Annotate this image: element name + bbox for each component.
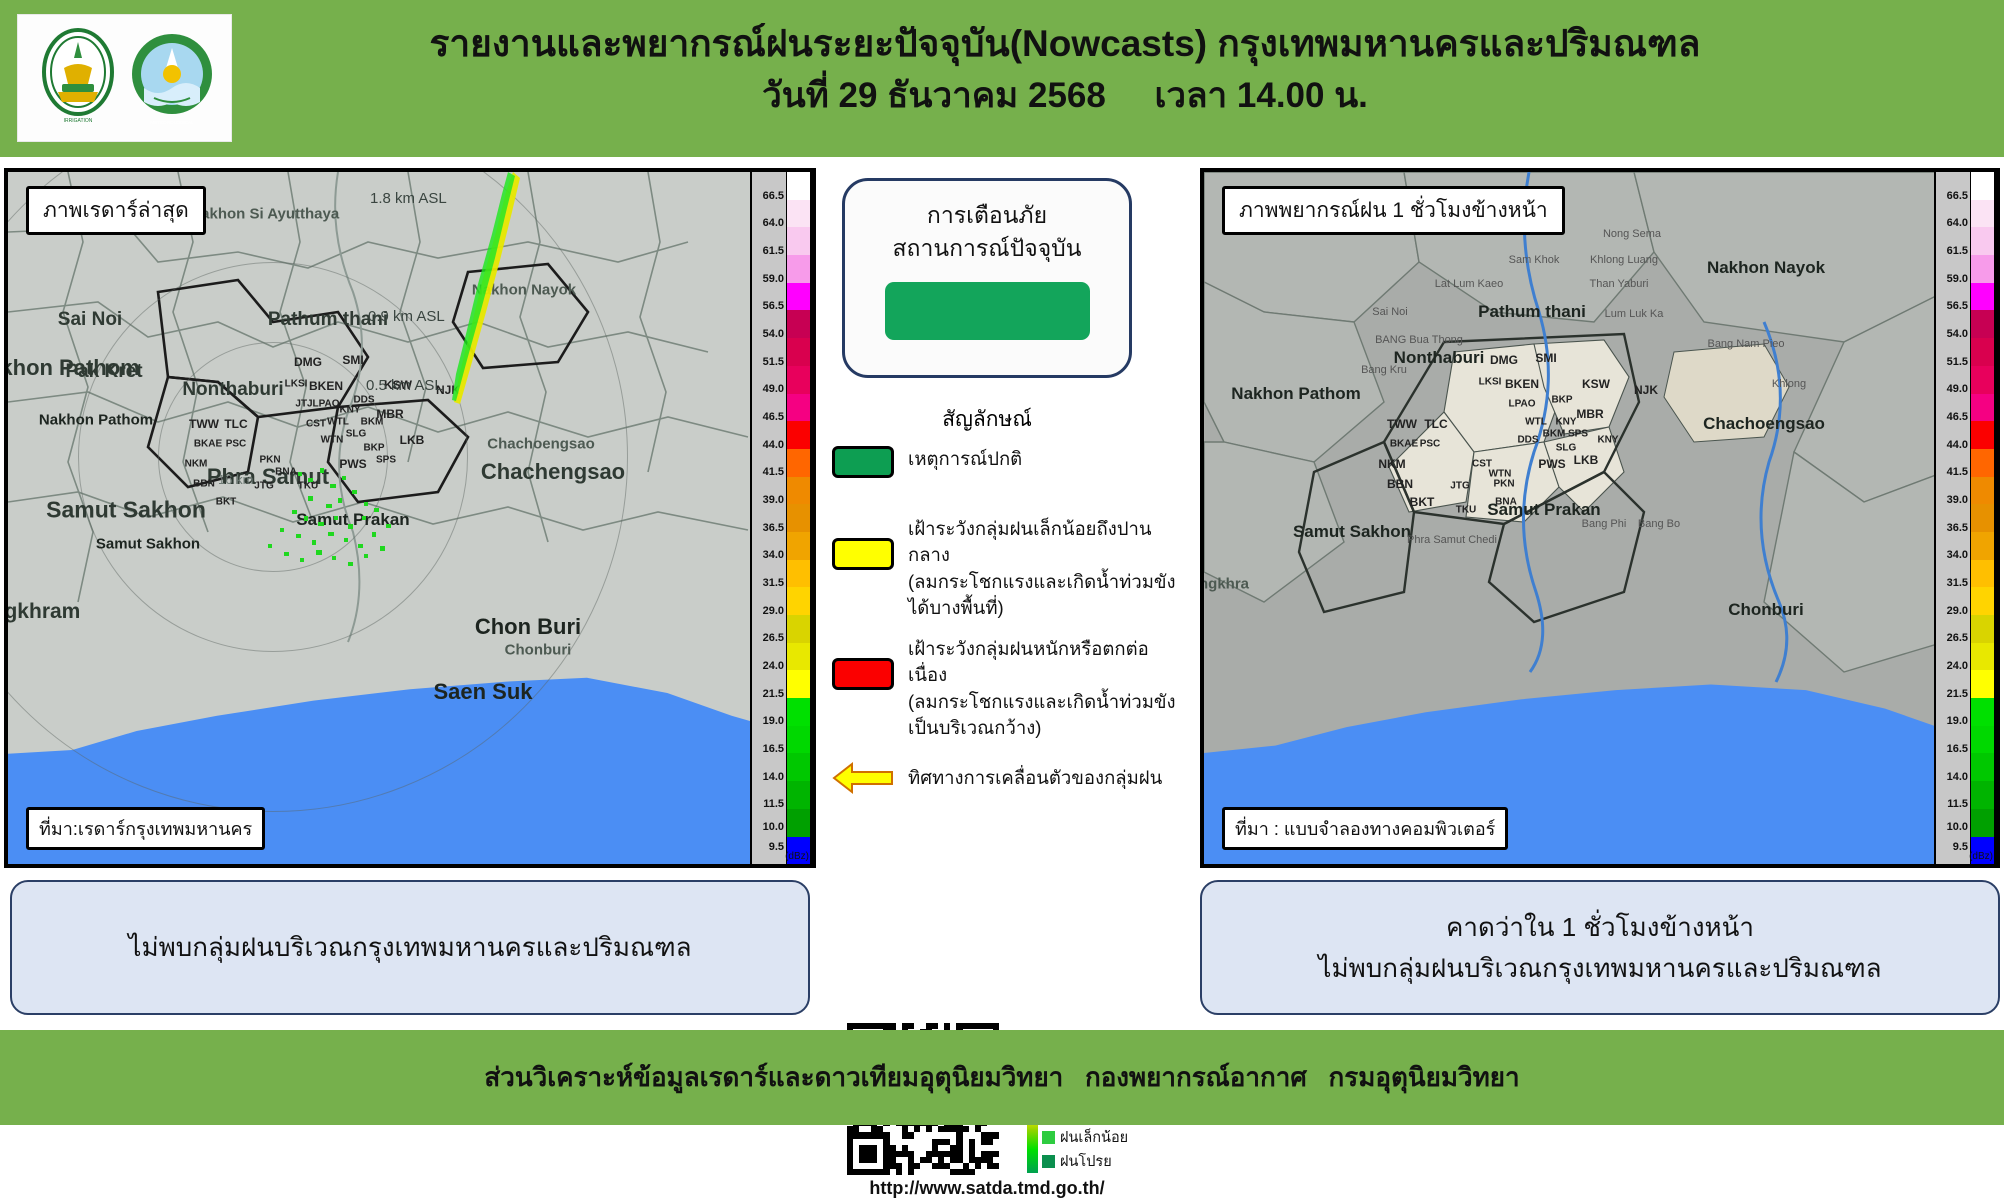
station-code: BNA: [1495, 497, 1517, 508]
station-code: BBN: [1387, 477, 1413, 491]
note-line: คาดว่าใน 1 ชั่วโมงข้างหน้า: [1318, 907, 1881, 947]
station-code: JTG: [1450, 481, 1469, 492]
map-label: Phra Samut Chedi: [1407, 534, 1497, 546]
symbol-label: เฝ้าระวังกลุ่มฝนหนักหรือตกต่อเนื่อง (ลมก…: [908, 636, 1182, 741]
colorbar-strip: [786, 172, 812, 864]
colorbar-tick: 66.5: [1947, 190, 1968, 202]
map-label: Lum Luk Ka: [1605, 308, 1664, 320]
station-code: SLG: [1556, 443, 1577, 454]
map-label: Nong Sema: [1603, 228, 1661, 240]
station-code: BKAE: [1390, 439, 1418, 450]
alert-title-1: การเตือนภัย: [845, 199, 1129, 232]
symbol-row-moderate: เฝ้าระวังกลุ่มฝนเล็กน้อยถึงปานกลาง (ลมกร…: [832, 516, 1182, 621]
colorbar-tick: 64.0: [1947, 217, 1968, 229]
colorbar-tick: 16.5: [763, 743, 784, 755]
radar-panel-tag: ภาพเรดาร์ล่าสุด: [26, 186, 206, 235]
symbol-row-normal: เหตุการณ์ปกติ: [832, 446, 1172, 478]
map-label: BANG Bua Thong: [1375, 334, 1463, 346]
radar-map-canvas: 1.8 km ASL 0.9 km ASL 0.5 km ASL 16 km: [8, 172, 812, 864]
alert-status-badge: [885, 282, 1090, 340]
station-code: MBR: [1576, 407, 1603, 421]
yellow-arrow-left-icon: [832, 760, 894, 796]
title-line-2: วันที่ 29 ธันวาคม 2568 เวลา 14.00 น.: [300, 72, 1830, 119]
colorbar-tick: 39.0: [763, 494, 784, 506]
colorbar-tick: 44.0: [763, 439, 784, 451]
station-code: NJK: [1634, 383, 1658, 397]
svg-text:METEOROLOGICAL: METEOROLOGICAL: [150, 120, 194, 125]
colorbar-unit: (dBz): [1969, 851, 1993, 862]
page-footer: ส่วนวิเคราะห์ข้อมูลเรดาร์และดาวเทียมอุตุ…: [0, 1030, 2004, 1125]
map-label: Sai Noi: [1372, 306, 1407, 318]
colorbar-tick: 39.0: [1947, 494, 1968, 506]
map-label: Sam Khok: [1509, 254, 1560, 266]
map-label: Khlong Luang: [1590, 254, 1658, 266]
map-label: Nonthaburi: [1394, 348, 1485, 368]
station-code: NKM: [1378, 457, 1405, 471]
footer-text: ส่วนวิเคราะห์ข้อมูลเรดาร์และดาวเทียมอุตุ…: [484, 1057, 1519, 1098]
station-code: PSC: [1420, 439, 1441, 450]
colorbar-tick: 9.5: [1953, 841, 1968, 853]
station-code: WTN: [1489, 469, 1512, 480]
colorbar-tick: 24.0: [763, 660, 784, 672]
station-code: LPAO: [1508, 399, 1535, 410]
colorbar-tick: 26.5: [1947, 632, 1968, 644]
colorbar-tick: 54.0: [763, 328, 784, 340]
colorbar-tick: 46.5: [763, 411, 784, 423]
forecast-image-panel[interactable]: Suphan Buri Phra Nakhon Si Ayutthaya Non…: [1200, 168, 2000, 868]
rain-legend-label: ฝนโปรย: [1060, 1150, 1112, 1173]
colorbar-tick: 44.0: [1947, 439, 1968, 451]
station-code: TKU: [1456, 505, 1477, 516]
symbol-row-heavy: เฝ้าระวังกลุ่มฝนหนักหรือตกต่อเนื่อง (ลมก…: [832, 636, 1182, 741]
colorbar-tick: 49.0: [763, 383, 784, 395]
page-title: รายงานและพยากรณ์ฝนระยะปัจจุบัน(Nowcasts)…: [300, 20, 1830, 119]
rain-chip: [1042, 1131, 1055, 1144]
colorbar-tick: 34.0: [763, 549, 784, 561]
station-code: KSW: [1582, 377, 1610, 391]
red-swatch-icon: [832, 658, 894, 690]
station-code: LKB: [1574, 453, 1599, 467]
symbol-row-direction: ทิศทางการเคลื่อนตัวของกลุ่มฝน: [832, 760, 1182, 796]
colorbar-tick: 11.5: [1947, 798, 1968, 810]
station-code: BKP: [1551, 395, 1572, 406]
station-code: DDS: [1517, 435, 1538, 446]
colorbar-tick: 24.0: [1947, 660, 1968, 672]
station-code: TWW: [1387, 417, 1417, 431]
map-label: Pathum thani: [1478, 302, 1586, 322]
colorbar-tick: 10.0: [763, 821, 784, 833]
rain-legend-item: ฝนโปรย: [1042, 1150, 1139, 1173]
radar-image-panel[interactable]: 1.8 km ASL 0.9 km ASL 0.5 km ASL 16 km: [4, 168, 816, 868]
radar-summary-note: ไม่พบกลุ่มฝนบริเวณกรุงเทพมหานครและปริมณฑ…: [10, 880, 810, 1015]
note-line: ไม่พบกลุ่มฝนบริเวณกรุงเทพมหานครและปริมณฑ…: [1318, 948, 1881, 988]
page-header: IRRIGATION METEOROLOGICAL รายงานและพยากร…: [0, 0, 2004, 157]
alert-title-2: สถานการณ์ปัจจุบัน: [845, 232, 1129, 265]
colorbar-tick: 14.0: [763, 771, 784, 783]
colorbar-tick: 21.5: [763, 688, 784, 700]
map-label: Khlong: [1772, 378, 1806, 390]
map-label: Than Yaburi: [1590, 278, 1649, 290]
colorbar-strip: [1970, 172, 1996, 864]
colorbar-tick: 61.5: [763, 245, 784, 257]
colorbar-tick: 16.5: [1947, 743, 1968, 755]
legend-column: การเตือนภัย สถานการณ์ปัจจุบัน สัญลักษณ์ …: [822, 168, 1194, 1108]
station-code: PWS: [1538, 457, 1565, 471]
station-code: KNY: [1597, 435, 1618, 446]
map-label: Bang Phi: [1582, 518, 1627, 530]
colorbar-tick: 56.5: [1947, 300, 1968, 312]
colorbar-tick: 46.5: [1947, 411, 1968, 423]
colorbar-tick: 29.0: [763, 605, 784, 617]
station-code: LKSI: [1479, 377, 1502, 388]
map-label: Bang Nam Pieo: [1707, 338, 1784, 350]
colorbar-tick: 54.0: [1947, 328, 1968, 340]
radar-source-tag: ที่มา:เรดาร์กรุงเทพมหานคร: [26, 807, 265, 850]
colorbar-tick: 9.5: [769, 841, 784, 853]
map-label: Chachoengsao: [1703, 414, 1825, 434]
agency-logos: IRRIGATION METEOROLOGICAL: [17, 14, 232, 142]
yellow-swatch-icon: [832, 538, 894, 570]
rain-chip: [1042, 1155, 1055, 1168]
colorbar-tick: 31.5: [1947, 577, 1968, 589]
colorbar-tick: 19.0: [763, 715, 784, 727]
colorbar-tick: 26.5: [763, 632, 784, 644]
forecast-panel-tag: ภาพพยากรณ์ฝน 1 ชั่วโมงข้างหน้า: [1222, 186, 1565, 235]
station-code: TLC: [1424, 417, 1447, 431]
colorbar-tick-labels: 66.5 64.0 61.5 59.0 56.5 54.0 51.5 49.0 …: [1936, 172, 1970, 864]
station-code: DMG: [1490, 353, 1518, 367]
svg-text:IRRIGATION: IRRIGATION: [63, 118, 92, 124]
title-line-1: รายงานและพยากรณ์ฝนระยะปัจจุบัน(Nowcasts)…: [300, 20, 1830, 68]
green-swatch-icon: [832, 446, 894, 478]
map-label: Bang Bo: [1638, 518, 1680, 530]
colorbar-tick: 31.5: [763, 577, 784, 589]
symbol-label: ทิศทางการเคลื่อนตัวของกลุ่มฝน: [908, 765, 1162, 791]
colorbar-tick: 41.5: [1947, 466, 1968, 478]
colorbar-tick: 49.0: [1947, 383, 1968, 395]
rain-legend-item: ฝนเล็กน้อย: [1042, 1126, 1139, 1149]
colorbar-tick: 14.0: [1947, 771, 1968, 783]
symbols-title: สัญลักษณ์: [822, 403, 1152, 436]
colorbar-tick: 51.5: [763, 356, 784, 368]
station-code: SPS: [1568, 429, 1588, 440]
forecast-source-tag: ที่มา : แบบจำลองทางคอมพิวเตอร์: [1222, 807, 1508, 850]
colorbar-unit: (dBz): [785, 851, 809, 862]
map-label: ngkhra: [1200, 576, 1249, 593]
map-label: Lat Lum Kaeo: [1435, 278, 1504, 290]
colorbar-tick: 64.0: [763, 217, 784, 229]
colorbar-tick: 11.5: [763, 798, 784, 810]
rain-legend-label: ฝนเล็กน้อย: [1060, 1126, 1128, 1149]
map-label: Chonburi: [1728, 600, 1804, 620]
colorbar-tick: 59.0: [763, 273, 784, 285]
symbol-label: เหตุการณ์ปกติ: [908, 446, 1022, 472]
colorbar-tick: 34.0: [1947, 549, 1968, 561]
station-code: BKM: [1543, 429, 1566, 440]
colorbar-tick-labels: 66.5 64.0 61.5 59.0 56.5 54.0 51.5 49.0 …: [752, 172, 786, 864]
forecast-map-canvas: Suphan Buri Phra Nakhon Si Ayutthaya Non…: [1204, 172, 1996, 864]
site-url[interactable]: http://www.satda.tmd.go.th/: [822, 1178, 1152, 1199]
colorbar-tick: 59.0: [1947, 273, 1968, 285]
map-label: Samut Sakhon: [1293, 522, 1411, 542]
colorbar-tick: 56.5: [763, 300, 784, 312]
map-label: Nakhon Nayok: [1707, 258, 1825, 278]
note-line: ไม่พบกลุ่มฝนบริเวณกรุงเทพมหานครและปริมณฑ…: [128, 927, 691, 967]
tmd-seal-icon: METEOROLOGICAL: [128, 24, 216, 132]
colorbar-tick: 29.0: [1947, 605, 1968, 617]
station-code: PKN: [1493, 479, 1514, 490]
colorbar-tick: 21.5: [1947, 688, 1968, 700]
colorbar-tick: 66.5: [763, 190, 784, 202]
forecast-summary-note: คาดว่าใน 1 ชั่วโมงข้างหน้า ไม่พบกลุ่มฝนบ…: [1200, 880, 2000, 1015]
map-label: Nakhon Pathom: [1231, 384, 1360, 404]
alert-status-card: การเตือนภัย สถานการณ์ปัจจุบัน: [842, 178, 1132, 378]
colorbar-tick: 41.5: [763, 466, 784, 478]
station-code: BKT: [1410, 495, 1435, 509]
colorbar-tick: 36.5: [763, 522, 784, 534]
symbol-label: เฝ้าระวังกลุ่มฝนเล็กน้อยถึงปานกลาง (ลมกร…: [908, 516, 1182, 621]
colorbar-tick: 36.5: [1947, 522, 1968, 534]
royal-irrigation-seal-icon: IRRIGATION: [34, 24, 122, 132]
colorbar-tick: 10.0: [1947, 821, 1968, 833]
colorbar-tick: 61.5: [1947, 245, 1968, 257]
radar-colorbar: 66.5 64.0 61.5 59.0 56.5 54.0 51.5 49.0 …: [750, 172, 812, 864]
colorbar-tick: 51.5: [1947, 356, 1968, 368]
station-code: KNY: [1555, 417, 1576, 428]
forecast-colorbar: 66.5 64.0 61.5 59.0 56.5 54.0 51.5 49.0 …: [1934, 172, 1996, 864]
colorbar-tick: 19.0: [1947, 715, 1968, 727]
station-code: WTL: [1525, 417, 1547, 428]
station-code: BKEN: [1505, 377, 1539, 391]
station-code: SMI: [1535, 351, 1556, 365]
